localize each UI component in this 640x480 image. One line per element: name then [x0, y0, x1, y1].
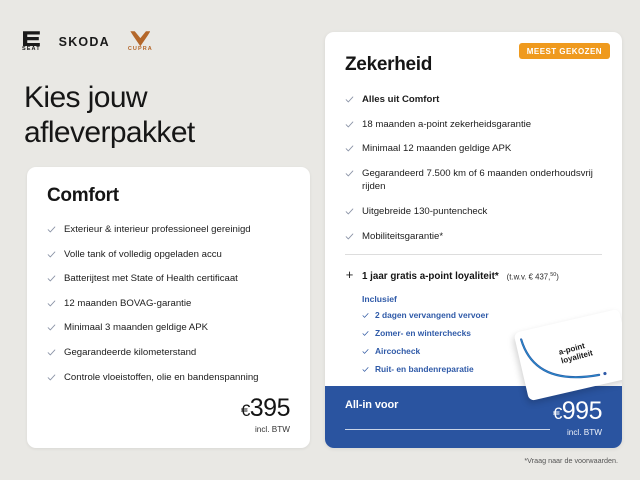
inclusief-label-text: Ruit- en bandenreparatie: [375, 364, 474, 375]
zekerheid-feature-item: Uitgebreide 130-puntencheck: [345, 205, 602, 219]
zekerheid-price-amount: 995: [562, 397, 602, 425]
check-icon: [362, 329, 369, 336]
feature-label: Controle vloeistoffen, olie en bandenspa…: [64, 371, 259, 385]
check-icon: [47, 323, 56, 332]
package-card-comfort[interactable]: Comfort Exterieur & interieur profession…: [27, 167, 310, 448]
check-icon: [47, 225, 56, 234]
comfort-currency-symbol: €: [241, 401, 250, 420]
cupra-logo-icon: [130, 31, 150, 46]
zekerheid-price: €995: [553, 399, 602, 424]
zekerheid-feature-item: Mobiliteitsgarantie*: [345, 230, 602, 244]
check-icon: [47, 373, 56, 382]
zekerheid-price-footer: All-in voor €995 incl. BTW: [325, 386, 622, 448]
check-icon: [345, 232, 354, 241]
zekerheid-currency-symbol: €: [553, 404, 562, 423]
comfort-feature-item: Gegarandeerde kilometerstand: [47, 346, 290, 360]
check-icon: [345, 169, 354, 178]
check-icon: [345, 144, 354, 153]
zekerheid-body: Zekerheid Alles uit Comfort18 maanden a-…: [325, 32, 622, 375]
comfort-feature-item: Exterieur & interieur professioneel gere…: [47, 223, 290, 237]
comfort-feature-item: Minimaal 3 maanden geldige APK: [47, 321, 290, 335]
zekerheid-price-note: incl. BTW: [553, 429, 602, 437]
check-icon: [47, 348, 56, 357]
loyalty-highlight-row: + 1 jaar gratis a-point loyaliteit* (t.w…: [345, 268, 602, 282]
inclusief-item: Ruit- en bandenreparatie: [362, 364, 602, 375]
check-icon: [362, 366, 369, 373]
check-icon: [47, 250, 56, 259]
plus-icon: +: [345, 268, 354, 281]
check-icon: [47, 274, 56, 283]
inclusief-item: Zomer- en winterchecks: [362, 328, 602, 339]
skoda-wordmark-icon: SKODA: [59, 35, 110, 49]
check-icon: [345, 169, 354, 178]
zekerheid-feature-item: 18 maanden a-point zekerheidsgarantie: [345, 118, 602, 132]
loyalty-title: 1 jaar gratis a-point loyaliteit*: [362, 271, 499, 282]
zekerheid-feature-item: Minimaal 12 maanden geldige APK: [345, 142, 602, 156]
check-icon: [47, 225, 56, 234]
feature-label: Alles uit Comfort: [362, 93, 439, 107]
brand-logo-bar: SEAT SKODA CUPRA: [22, 30, 153, 54]
feature-label: Gegarandeerde kilometerstand: [64, 346, 196, 360]
loyalty-value-prefix: (t.w.v. € 437,: [507, 272, 551, 281]
check-icon: [362, 348, 369, 355]
check-icon: [47, 323, 56, 332]
check-icon: [345, 207, 354, 216]
comfort-feature-item: Volle tank of volledig opgeladen accu: [47, 248, 290, 262]
check-icon: [47, 299, 56, 308]
comfort-feature-item: Batterijtest met State of Health certifi…: [47, 272, 290, 286]
check-icon: [47, 250, 56, 259]
check-icon: [362, 311, 369, 318]
comfort-feature-list: Exterieur & interieur professioneel gere…: [47, 223, 290, 384]
check-icon: [47, 299, 56, 308]
zekerheid-price-block: €995 incl. BTW: [553, 399, 602, 437]
cupra-wordmark: CUPRA: [128, 47, 153, 53]
check-icon: [47, 373, 56, 382]
check-icon: [345, 95, 354, 104]
feature-label: Minimaal 12 maanden geldige APK: [362, 142, 511, 156]
feature-label: 18 maanden a-point zekerheidsgarantie: [362, 118, 531, 132]
check-icon: [345, 95, 354, 104]
inclusief-label-text: Aircocheck: [375, 346, 420, 357]
inclusief-label: Inclusief: [362, 294, 602, 304]
footnote-terms: *Vraag naar de voorwaarden.: [524, 456, 618, 465]
allin-label: All-in voor: [345, 399, 398, 411]
comfort-price-block: €395 incl. BTW: [241, 396, 290, 434]
feature-label: 12 maanden BOVAG-garantie: [64, 297, 191, 311]
check-icon: [362, 330, 369, 337]
cupra-logo: CUPRA: [128, 31, 153, 53]
comfort-card-title: Comfort: [47, 185, 290, 207]
check-icon: [47, 348, 56, 357]
seat-logo-icon: [23, 31, 40, 46]
loyalty-value: (t.w.v. € 437,50): [507, 272, 559, 282]
page-title: Kies jouw afleverpakket: [24, 80, 304, 151]
inclusief-item: 2 dagen vervangend vervoer: [362, 310, 602, 321]
check-icon: [345, 144, 354, 153]
check-icon: [345, 120, 354, 129]
inclusief-item: Aircocheck: [362, 346, 602, 357]
inclusief-item-list: 2 dagen vervangend vervoerZomer- en wint…: [362, 310, 602, 375]
check-icon: [345, 232, 354, 241]
package-card-zekerheid[interactable]: MEEST GEKOZEN Zekerheid Alles uit Comfor…: [325, 32, 622, 448]
comfort-feature-item: 12 maanden BOVAG-garantie: [47, 297, 290, 311]
comfort-price-amount: 395: [250, 394, 290, 422]
check-icon: [345, 120, 354, 129]
check-icon: [362, 347, 369, 354]
footer-rule: [345, 429, 550, 430]
zekerheid-feature-item: Alles uit Comfort: [345, 93, 602, 107]
status-badge-meest-gekozen: MEEST GEKOZEN: [519, 43, 610, 59]
feature-label: Exterieur & interieur professioneel gere…: [64, 223, 251, 237]
check-icon: [362, 365, 369, 372]
check-icon: [345, 207, 354, 216]
feature-label: Uitgebreide 130-puntencheck: [362, 205, 487, 219]
check-icon: [362, 312, 369, 319]
seat-logo: SEAT: [22, 31, 41, 53]
comfort-price-note: incl. BTW: [241, 425, 290, 434]
zekerheid-feature-list: Alles uit Comfort18 maanden a-point zeke…: [345, 93, 602, 243]
feature-label: Gegarandeerd 7.500 km of 6 maanden onder…: [362, 167, 602, 194]
loyalty-value-suffix: ): [556, 272, 559, 281]
inclusief-label-text: 2 dagen vervangend vervoer: [375, 310, 489, 321]
inclusief-label-text: Zomer- en winterchecks: [375, 328, 471, 339]
seat-wordmark: SEAT: [22, 47, 41, 53]
zekerheid-feature-item: Gegarandeerd 7.500 km of 6 maanden onder…: [345, 167, 602, 194]
comfort-price: €395: [241, 396, 290, 421]
check-icon: [47, 274, 56, 283]
feature-label: Batterijtest met State of Health certifi…: [64, 272, 238, 286]
feature-label: Volle tank of volledig opgeladen accu: [64, 248, 222, 262]
divider: [345, 254, 602, 255]
comfort-feature-item: Controle vloeistoffen, olie en bandenspa…: [47, 371, 290, 385]
feature-label: Mobiliteitsgarantie*: [362, 230, 443, 244]
inclusief-section: Inclusief 2 dagen vervangend vervoerZome…: [345, 294, 602, 375]
feature-label: Minimaal 3 maanden geldige APK: [64, 321, 208, 335]
